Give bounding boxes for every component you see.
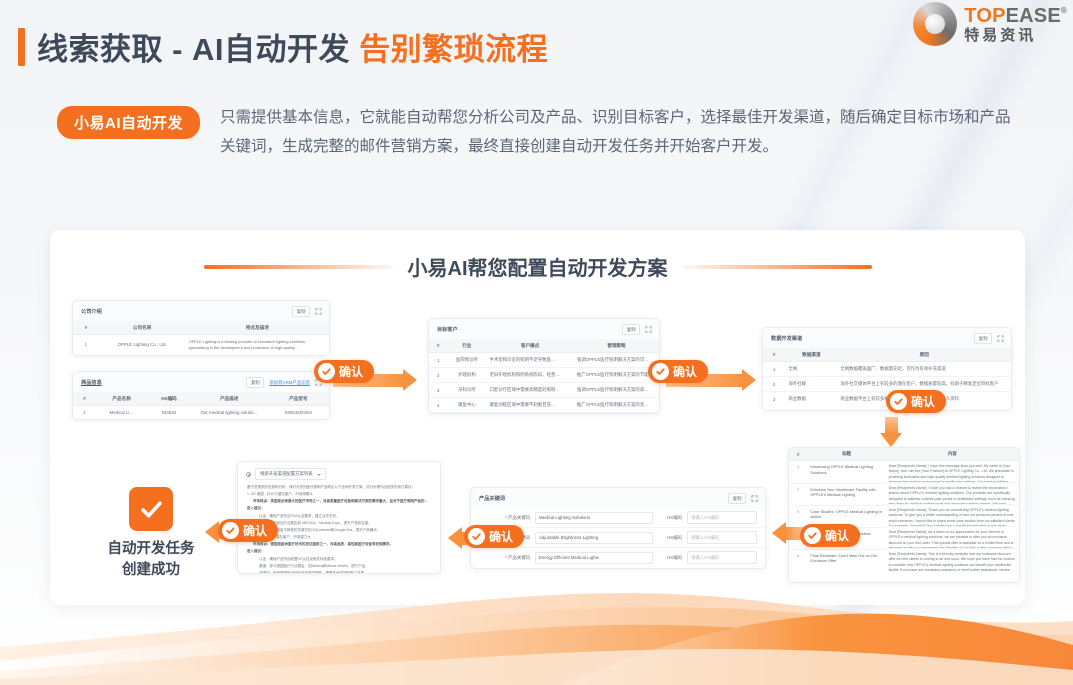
col-body: 内容 (886, 448, 1019, 461)
email-table: # 标题 内容 1Introducing OPPLE Medical Light… (789, 448, 1019, 571)
table-row: 3牙科诊所口腔诊疗区域中需要高精度的照明…强调OPPLE医疗照明解决方案的高… (429, 383, 659, 398)
page-title-main: 线索获取 - AI自动开发 (37, 32, 359, 67)
cell-body: Dear [Recipient's Name], I hope you had … (886, 483, 1019, 505)
table-header-row: # 产品名称 HS编码 产品描述 产品型号 (73, 392, 329, 406)
cell-painpoint: 口腔诊疗区域中需要高精度的照明… (486, 383, 573, 398)
col-product-desc: 产品描述 (191, 392, 268, 406)
plan-line: 关键词：使用德语和当地产品关键词搜索，精确本地市场的推广效果。 (247, 571, 431, 574)
col-index: # (73, 321, 99, 335)
board-title-rule-left (204, 265, 394, 269)
col-subject: 标题 (807, 448, 885, 461)
plan-line: 渠道：参与德国医疗行业展会，如Medica和Messe Health，提升产品。 (247, 564, 431, 570)
product-table: # 产品名称 HS编码 产品描述 产品型号 1 Medical Li… 9405… (73, 392, 329, 419)
col-painpoint: 客户痛点 (486, 339, 573, 353)
cell-index: 1 (73, 335, 99, 355)
copy-button[interactable]: 复制 (292, 306, 310, 317)
development-plan-card: 线索开发渠道配置方案列表 基于您提供的信息和分析，我们为您的医疗照明产品制定以下… (237, 461, 441, 574)
product-info-card: 商品信息 复制 添加到CRM产品信息 # 产品名称 HS编码 产品描述 产品型号… (72, 371, 330, 420)
confirm-chip-keyword[interactable]: 确认 (464, 525, 524, 548)
cell-channel: 海外社媒 (785, 377, 837, 392)
title-accent-bar (18, 28, 25, 66)
keyword-card-actions: 复制 (728, 493, 758, 504)
cell-body: Dear [Recipient's Name], I hope this mes… (886, 461, 1019, 483)
copy-button[interactable]: 复制 (974, 333, 992, 344)
board-title-row: 小易AI帮您配置自动开发方案 (50, 252, 1025, 281)
plan-line: 1. US 美国 - 约10万潜在客户，市场规模大 (247, 492, 431, 498)
table-row: 1医院和诊所手术室和诊室的照明不足导致医…强调OPPLE医疗照明解决方案的可… (429, 353, 659, 368)
cell-index: 3 (429, 383, 447, 398)
check-icon (222, 522, 239, 539)
keyword-input[interactable]: Energy Efficient Medical Lights (535, 552, 653, 564)
confirm-label: 确认 (243, 522, 267, 539)
hs-code-label: HS编码 (653, 555, 687, 561)
logo-wordmark: TOPEASE® 特易资讯 (964, 6, 1067, 43)
table-row: 4康复中心康复训练区域中需要不刺眼且充…推广OPPLE医疗照明解决方案的亮… (429, 398, 659, 413)
hs-code-input[interactable]: 请输入HS编码 (687, 551, 757, 564)
cell-index: 5 (429, 413, 447, 415)
table-header-row: # 数据渠道 原因 (763, 348, 1011, 362)
cell-product-name: Medical Li… (96, 406, 147, 420)
plan-line: 市场特点：美国是全球最大的医疗市场之一，对高质量医疗设备和解决方案的需求量大，且… (247, 499, 431, 505)
cell-strategy: 推广OPPLE医疗照明解决方案的节能… (574, 368, 659, 383)
cell-strategy: 强调OPPLE医疗照明解决方案的高… (574, 383, 659, 398)
cell-body: Dear [Recipient's Name], This is a frien… (886, 549, 1019, 571)
expand-icon[interactable] (645, 326, 652, 333)
confirm-label: 确认 (825, 527, 849, 544)
cell-subject: Final Reminder: Don't Miss Out on Our Ex… (807, 549, 885, 571)
intro-paragraph: 只需提供基本信息，它就能自动帮您分析公司及产品、识别目标客户，选择最佳开发渠道，… (220, 104, 1020, 161)
logo-registered-mark: ® (1061, 7, 1067, 15)
table-header-row: # 公司名称 特点及描述 (73, 321, 329, 335)
confirm-label: 确认 (673, 363, 697, 380)
table-header-row: # 行业 客户痛点 营销策略 (429, 339, 659, 353)
page-title-accent: 告别繁琐流程 (359, 32, 548, 67)
cell-index: 2 (763, 377, 785, 392)
check-icon (890, 393, 907, 410)
board-title: 小易AI帮您配置自动开发方案 (394, 252, 682, 281)
cell-channel: 商业数据 (785, 392, 837, 407)
page-title: 线索获取 - AI自动开发 告别繁琐流程 (37, 24, 548, 69)
table-row: 2海外社媒海外社交媒体平台上有较多的潜在客户，数据质量较高，有助于精准定位目标客… (763, 377, 1011, 392)
col-company-name: 公司名称 (99, 321, 186, 335)
col-index: # (429, 339, 447, 353)
cell-index: 2 (789, 483, 807, 505)
cell-hs-code: 940542 (147, 406, 191, 420)
required-marker: * (505, 555, 507, 560)
page-header: 线索获取 - AI自动开发 告别繁琐流程 (18, 24, 548, 69)
cell-painpoint: 康复训练区域中需要不刺眼且充… (486, 398, 573, 413)
table-row: 5实验室实验区域中需要高稳定的照明，确…强调OPPLE医疗照明解决方案的稳… (429, 413, 659, 415)
flow-arrow-down-1 (880, 417, 902, 447)
expand-icon[interactable] (315, 308, 322, 315)
company-info-card: 公司介绍 复制 # 公司名称 特点及描述 1 OPPLE Lighting Co… (72, 300, 330, 356)
hs-code-label: HS编码 (653, 535, 687, 541)
keyword-label-text: 产品关键词 (508, 555, 530, 560)
keyword-row: * 产品关键词 Energy Efficient Medical Lights … (471, 548, 765, 567)
check-icon (804, 527, 821, 544)
cell-industry: 医院和诊所 (447, 353, 486, 368)
channel-card-actions: 复制 (974, 333, 1004, 344)
check-icon (652, 363, 669, 380)
expand-icon[interactable] (997, 335, 1004, 342)
cell-company-name: OPPLE Lighting Co., Ltd. (99, 335, 186, 355)
col-product-name: 产品名称 (96, 392, 147, 406)
hs-code-label: HS编码 (653, 515, 687, 521)
cell-product-model: S3923400204 (268, 406, 329, 420)
col-strategy: 营销策略 (574, 339, 659, 353)
col-product-model: 产品型号 (268, 392, 329, 406)
confirm-chip-email[interactable]: 确认 (800, 524, 860, 547)
cell-channel: 全网 (785, 362, 837, 377)
channel-card-header: 数据开发渠道 复制 (763, 328, 1011, 348)
success-check-icon (129, 487, 173, 531)
plan-line: 认证：确保产品符合欧盟CE认证及相关标准要求。 (247, 557, 431, 563)
email-campaign-card: # 标题 内容 1Introducing OPPLE Medical Light… (788, 447, 1020, 583)
target-card-header: 目标客户 复制 (429, 319, 659, 339)
col-reason: 原因 (837, 348, 1011, 362)
channel-card-title: 数据开发渠道 (771, 335, 802, 342)
plan-card-header: 线索开发渠道配置方案列表 (238, 462, 440, 483)
table-row: 1Introducing OPPLE Medical Lighting Solu… (789, 461, 1019, 484)
cell-reason: 全网数据覆盖面广、数据量充足，可作为有效补充渠道 (837, 362, 1011, 377)
target-table: # 行业 客户痛点 营销策略 1医院和诊所手术室和诊室的照明不足导致医…强调OP… (429, 339, 659, 414)
cell-body: Dear [Recipient's Name], Thank you for c… (886, 505, 1019, 527)
cell-index: 5 (789, 549, 807, 571)
confirm-chip-target[interactable]: 确认 (648, 360, 708, 383)
plan-line: 进入建议： (247, 506, 431, 512)
slide-page: TOPEASE® 特易资讯 线索获取 - AI自动开发 告别繁琐流程 小易AI自… (0, 0, 1073, 685)
confirm-chip-channel[interactable]: 确认 (886, 390, 946, 413)
expand-icon[interactable] (751, 495, 758, 502)
topease-logo: TOPEASE® 特易资讯 (913, 2, 1067, 46)
check-icon (318, 363, 335, 380)
confirm-chip-company[interactable]: 确认 (314, 360, 374, 383)
cell-painpoint: 实验区域中需要高稳定的照明，确… (486, 413, 573, 415)
product-card-actions: 复制 添加到CRM产品信息 (246, 377, 322, 388)
target-card-title: 目标客户 (437, 326, 458, 333)
intro-section: 小易AI自动开发 只需提供基本信息，它就能自动帮您分析公司及产品、识别目标客户，… (57, 104, 1057, 161)
target-card-actions: 复制 (622, 324, 652, 335)
cell-subject: Introducing OPPLE Medical Lighting Solut… (807, 461, 885, 484)
company-card-title: 公司介绍 (81, 308, 102, 315)
keyword-card-title: 产品关键词 (479, 495, 505, 502)
confirm-chip-plan[interactable]: 确认 (218, 519, 278, 542)
cell-painpoint: 老旧护理机构照明系统陈旧，经营… (486, 368, 573, 383)
hs-code-input[interactable]: 请输入HS编码 (687, 531, 757, 544)
check-icon (468, 528, 485, 545)
target-customer-card: 目标客户 复制 # 行业 客户痛点 营销策略 1医院和诊所手术室和诊室的照明不足… (428, 318, 660, 414)
plan-select[interactable]: 线索开发渠道配置方案列表 (255, 468, 326, 480)
copy-button[interactable]: 复制 (246, 377, 264, 388)
add-to-crm-link[interactable]: 添加到CRM产品信息 (269, 380, 310, 386)
keyword-input[interactable]: Adjustable Brightness Lighting (535, 532, 653, 544)
keyword-label: * 产品关键词 (479, 515, 535, 521)
product-card-title: 商品信息 (81, 379, 102, 386)
keyword-input[interactable]: Medical Lighting Solutions (535, 512, 653, 524)
col-company-desc: 特点及描述 (186, 321, 329, 335)
keyword-card-header: 产品关键词 复制 (471, 488, 765, 508)
confirm-label: 确认 (911, 393, 935, 410)
cell-index: 4 (429, 398, 447, 413)
logo-brand-cn: 特易资讯 (964, 28, 1067, 43)
decorative-wave (0, 575, 1073, 685)
task-success-block: 自动开发任务 创建成功 (96, 487, 206, 581)
col-industry: 行业 (447, 339, 486, 353)
col-channel: 数据渠道 (785, 348, 837, 362)
table-row: 2护理机构老旧护理机构照明系统陈旧，经营…推广OPPLE医疗照明解决方案的节能… (429, 368, 659, 383)
company-table: # 公司名称 特点及描述 1 OPPLE Lighting Co., Ltd. … (73, 321, 329, 355)
hs-code-input[interactable]: 请输入HS编码 (687, 511, 757, 524)
confirm-label: 确认 (489, 528, 513, 545)
company-card-actions: 复制 (292, 306, 322, 317)
copy-button[interactable]: 复制 (622, 324, 640, 335)
radio-selected-icon[interactable] (246, 472, 251, 477)
cell-index: 1 (429, 353, 447, 368)
success-line-1: 自动开发任务 (96, 539, 206, 560)
table-row: 2Enhance Your Healthcare Facility with O… (789, 483, 1019, 505)
col-index: # (763, 348, 785, 362)
cell-strategy: 强调OPPLE医疗照明解决方案的稳… (574, 413, 659, 415)
product-card-header: 商品信息 复制 添加到CRM产品信息 (73, 372, 329, 392)
table-row: 5Final Reminder: Don't Miss Out on Our E… (789, 549, 1019, 571)
logo-brand-ease: EASE (1006, 6, 1061, 26)
keyword-label: * 产品关键词 (479, 555, 535, 561)
plan-line: 市场特点：德国是欧洲医疗技术的发达国家之一，对高品质、高性能医疗设备有较强需求。 (247, 542, 431, 548)
plan-line: 基于您提供的信息和分析，我们为您的医疗照明产品制定以下全网开发方案，并分步骤列出… (247, 485, 431, 491)
cell-painpoint: 手术室和诊室的照明不足导致医… (486, 353, 573, 368)
company-card-header: 公司介绍 复制 (73, 301, 329, 321)
cell-industry: 康复中心 (447, 398, 486, 413)
table-header-row: # 标题 内容 (789, 448, 1019, 461)
cell-index: 2 (429, 368, 447, 383)
confirm-label: 确认 (339, 363, 363, 380)
cell-product-desc: Our medical lighting solutio… (191, 406, 268, 420)
plan-line: 进入建议： (247, 549, 431, 555)
cell-index: 1 (73, 406, 96, 420)
col-index: # (73, 392, 96, 406)
table-row: 1 Medical Li… 940542 Our medical lightin… (73, 406, 329, 420)
logo-mark-icon (913, 2, 957, 46)
board-title-rule-right (682, 265, 872, 269)
required-marker: * (505, 515, 507, 520)
copy-button[interactable]: 复制 (728, 493, 746, 504)
cell-industry: 牙科诊所 (447, 383, 486, 398)
plan-line: 认证：确保产品符合FDA认证要求，建立合作关系。 (247, 514, 431, 520)
cell-subject: Enhance Your Healthcare Facility with OP… (807, 483, 885, 505)
feature-pill-badge: 小易AI自动开发 (57, 106, 200, 139)
cell-strategy: 强调OPPLE医疗照明解决方案的可… (574, 353, 659, 368)
cell-industry: 护理机构 (447, 368, 486, 383)
cell-index: 1 (789, 461, 807, 484)
cell-index: 3 (763, 392, 785, 407)
cell-strategy: 推广OPPLE医疗照明解决方案的亮… (574, 398, 659, 413)
cell-industry: 实验室 (447, 413, 486, 415)
cell-body: Dear [Recipient's Name], As a token of o… (886, 527, 1019, 549)
cell-company-desc: OPPLE Lighting is a leading provider of … (186, 335, 329, 355)
col-index: # (789, 448, 807, 461)
col-hs-code: HS编码 (147, 392, 191, 406)
logo-brand-top: TOP (964, 6, 1005, 26)
table-row: 1 OPPLE Lighting Co., Ltd. OPPLE Lightin… (73, 335, 329, 355)
cell-index: 1 (763, 362, 785, 377)
table-row: 1全网全网数据覆盖面广、数据量充足，可作为有效补充渠道 (763, 362, 1011, 377)
keyword-label-text: 产品关键词 (508, 515, 530, 520)
